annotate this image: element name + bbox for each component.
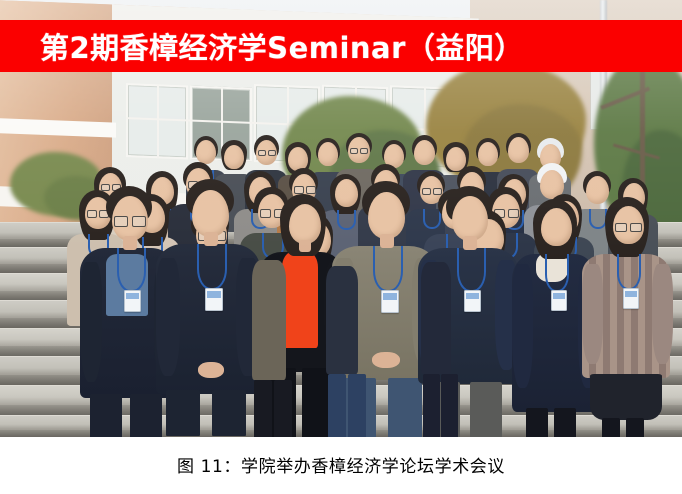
event-banner-title: 第2期香樟经济学Seminar（益阳） — [40, 25, 524, 67]
document-page: 第2期香樟经济学Seminar（益阳） 图 11：学院举办香樟经济学论坛学术会议 — [0, 0, 682, 494]
front-3-orange-top — [282, 252, 318, 348]
event-banner: 第2期香樟经济学Seminar（益阳） — [0, 20, 682, 72]
group-photo-image: 第2期香樟经济学Seminar（益阳） — [0, 0, 682, 437]
front-1-badge — [124, 290, 141, 312]
front-2-badge — [205, 288, 223, 311]
figure-caption: 图 11：学院举办香樟经济学论坛学术会议 — [0, 452, 682, 477]
front-7-badge — [623, 288, 639, 309]
front-6-badge — [551, 290, 567, 311]
front-4-badge — [381, 290, 399, 313]
front-5-badge — [464, 290, 481, 312]
